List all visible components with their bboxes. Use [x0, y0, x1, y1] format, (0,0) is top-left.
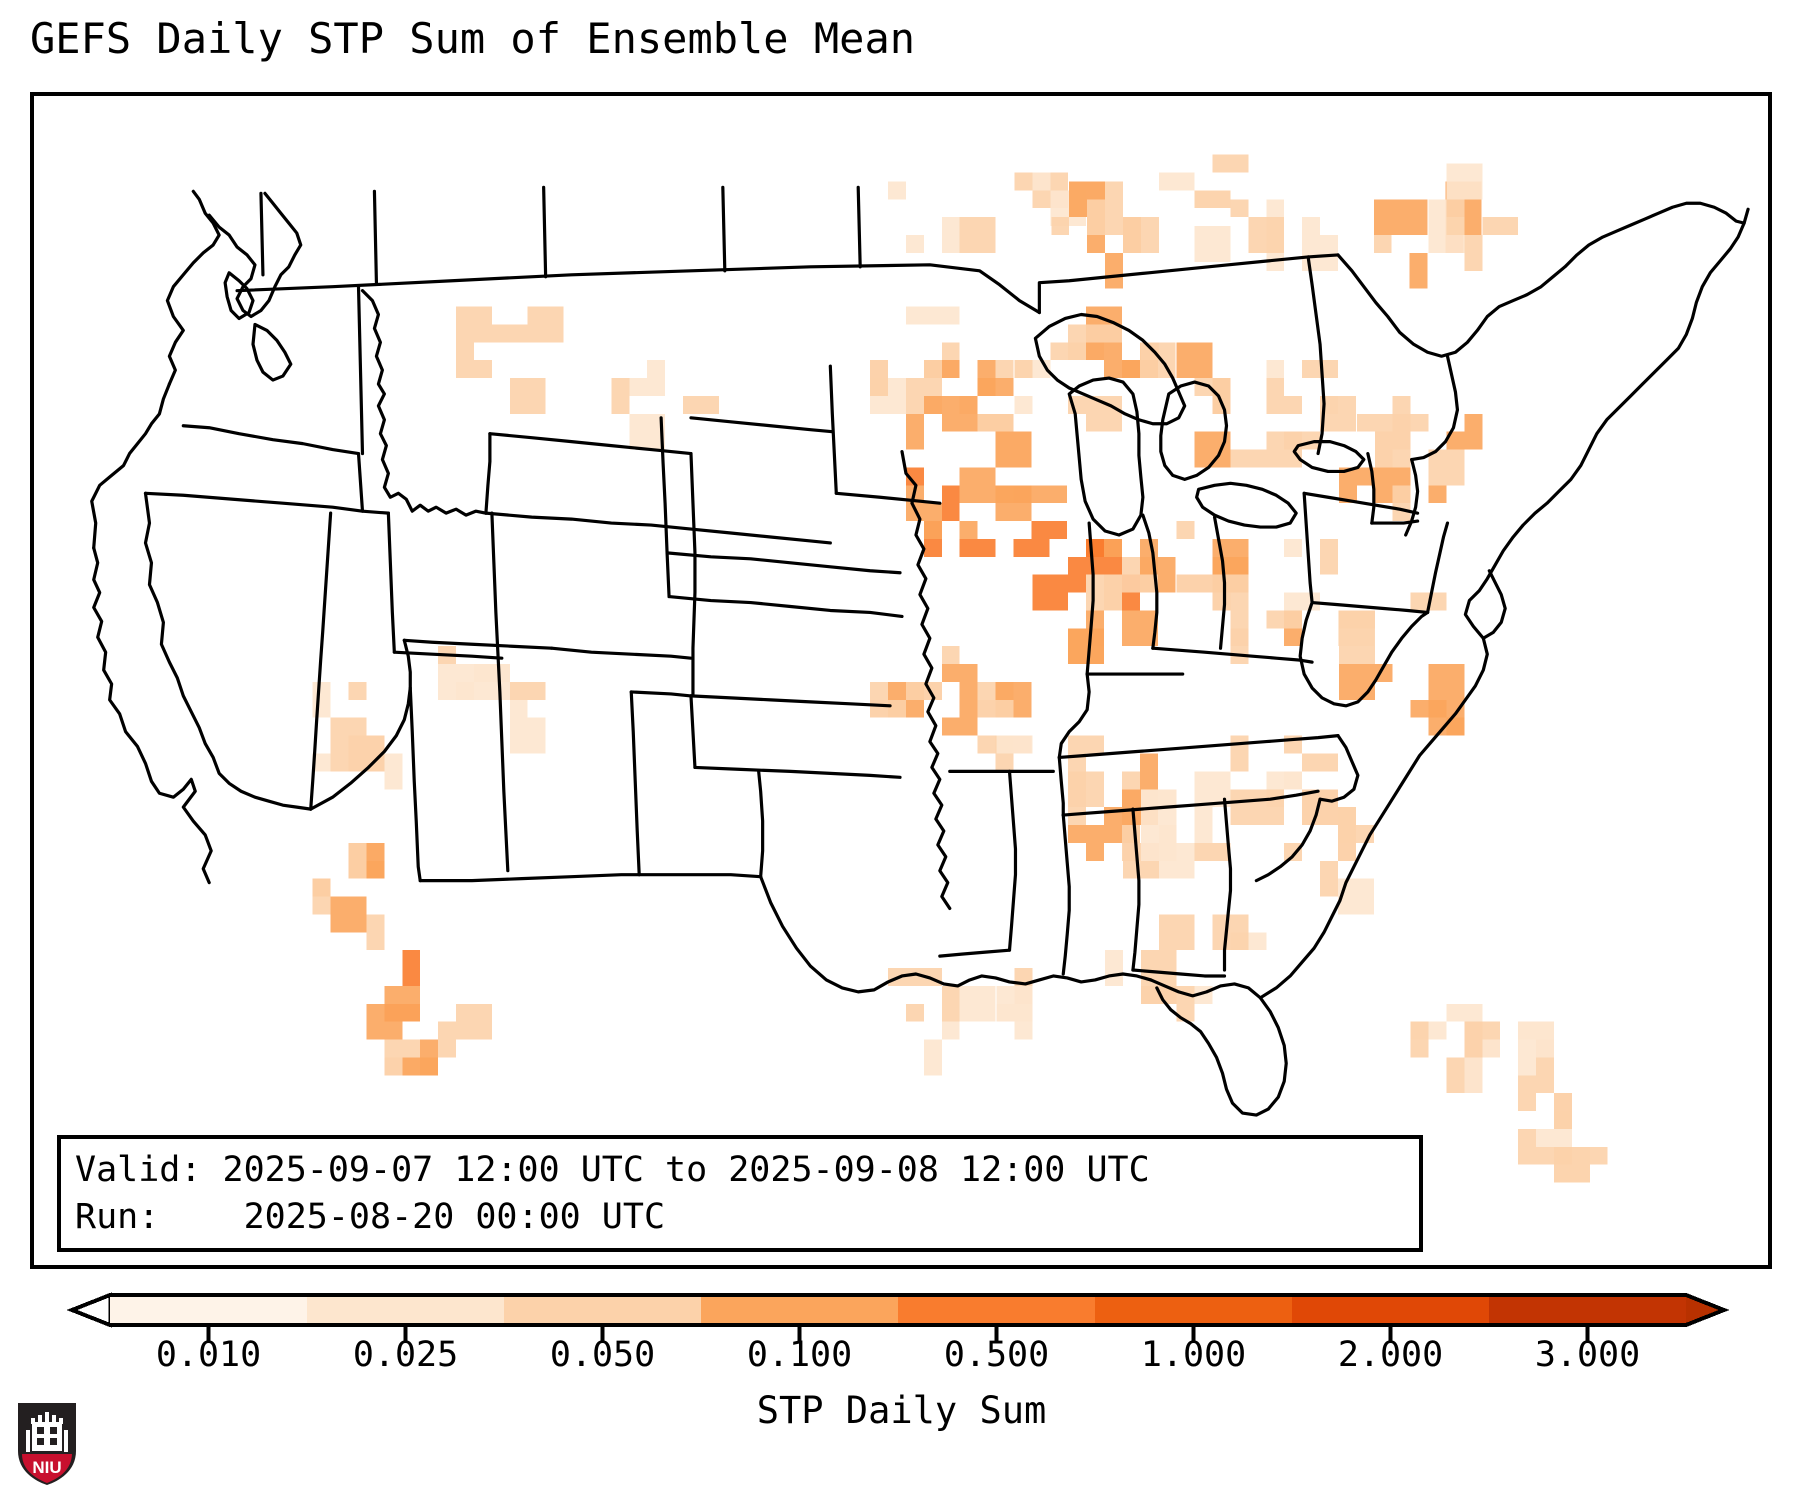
colorbar-tick-3.000: 3.000 — [1535, 1335, 1640, 1375]
colorbar-gradient — [0, 1275, 1803, 1395]
niu-logo-text: NIU — [32, 1458, 61, 1477]
map-frame — [30, 92, 1772, 1269]
colorbar-tick-0.010: 0.010 — [156, 1335, 261, 1375]
page-title: GEFS Daily STP Sum of Ensemble Mean — [30, 14, 915, 63]
valid-time-text: Valid: 2025-09-07 12:00 UTC to 2025-09-0… — [75, 1147, 1419, 1194]
colorbar-tick-0.050: 0.050 — [550, 1335, 655, 1375]
colorbar-tick-0.025: 0.025 — [353, 1335, 458, 1375]
colorbar: 0.0100.0250.0500.1000.5001.0002.0003.000… — [0, 1275, 1803, 1500]
run-time-text: Run: 2025-08-20 00:00 UTC — [75, 1194, 1419, 1241]
colorbar-axis-label: STP Daily Sum — [0, 1389, 1803, 1432]
forecast-info-box: Valid: 2025-09-07 12:00 UTC to 2025-09-0… — [57, 1135, 1423, 1252]
niu-shield-logo: NIU — [16, 1400, 78, 1488]
geography-layer — [34, 96, 1768, 1265]
colorbar-tick-2.000: 2.000 — [1338, 1335, 1443, 1375]
colorbar-tick-0.500: 0.500 — [944, 1335, 1049, 1375]
colorbar-tick-1.000: 1.000 — [1141, 1335, 1246, 1375]
colorbar-tick-0.100: 0.100 — [747, 1335, 852, 1375]
